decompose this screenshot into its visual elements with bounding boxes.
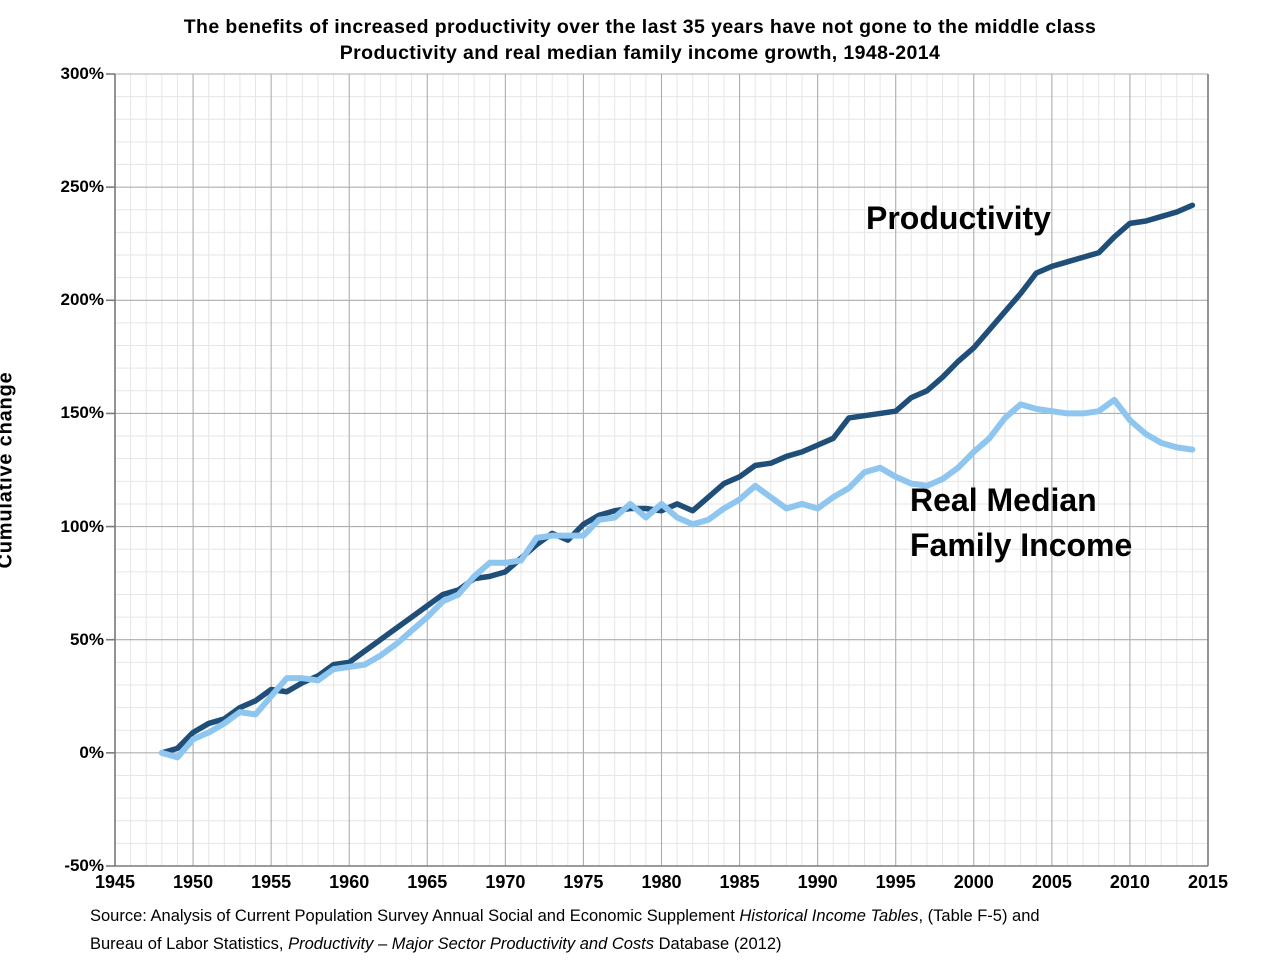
x-tick-label-1960: 1960 (309, 872, 389, 893)
series-annotation-income: Real Median Family Income (910, 478, 1132, 568)
series-annotation-income-line1: Real Median (910, 478, 1132, 523)
x-tick-label-1945: 1945 (75, 872, 155, 893)
y-tick-label-250: 250% (8, 177, 104, 197)
source-line-2-part-b: Database (2012) (654, 935, 782, 953)
y-tick-label-150: 150% (8, 403, 104, 423)
y-tick-label-200: 200% (8, 290, 104, 310)
x-tick-label-2010: 2010 (1090, 872, 1170, 893)
source-line-1: Source: Analysis of Current Population S… (90, 902, 1270, 930)
x-tick-label-1970: 1970 (465, 872, 545, 893)
series-annotation-income-line2: Family Income (910, 523, 1132, 568)
source-line-2-italic: Productivity – Major Sector Productivity… (288, 935, 654, 953)
x-tick-label-1990: 1990 (778, 872, 858, 893)
chart-figure: The benefits of increased productivity o… (0, 0, 1280, 960)
x-tick-label-1980: 1980 (622, 872, 702, 893)
x-tick-label-1995: 1995 (856, 872, 936, 893)
x-tick-label-1975: 1975 (543, 872, 623, 893)
source-line-1-part-b: , (Table F-5) and (919, 907, 1040, 925)
source-line-2-part-a: Bureau of Labor Statistics, (90, 935, 288, 953)
x-tick-label-1965: 1965 (387, 872, 467, 893)
x-tick-label-2005: 2005 (1012, 872, 1092, 893)
y-tick-label-0: 0% (8, 743, 104, 763)
y-tick-label-50: 50% (8, 630, 104, 650)
y-tick-label-300: 300% (8, 64, 104, 84)
source-line-1-part-a: Source: Analysis of Current Population S… (90, 907, 739, 925)
source-line-1-italic: Historical Income Tables (739, 907, 918, 925)
x-tick-label-1955: 1955 (231, 872, 311, 893)
y-tick-label-100: 100% (8, 517, 104, 537)
x-tick-label-1950: 1950 (153, 872, 233, 893)
source-footnote: Source: Analysis of Current Population S… (90, 902, 1270, 958)
series-annotation-productivity: Productivity (866, 196, 1051, 241)
x-tick-label-2015: 2015 (1168, 872, 1248, 893)
source-line-2: Bureau of Labor Statistics, Productivity… (90, 930, 1270, 958)
x-tick-label-2000: 2000 (934, 872, 1014, 893)
grid-major-lines (115, 74, 1208, 866)
axis-tick-marks (106, 74, 115, 866)
x-tick-label-1985: 1985 (700, 872, 780, 893)
